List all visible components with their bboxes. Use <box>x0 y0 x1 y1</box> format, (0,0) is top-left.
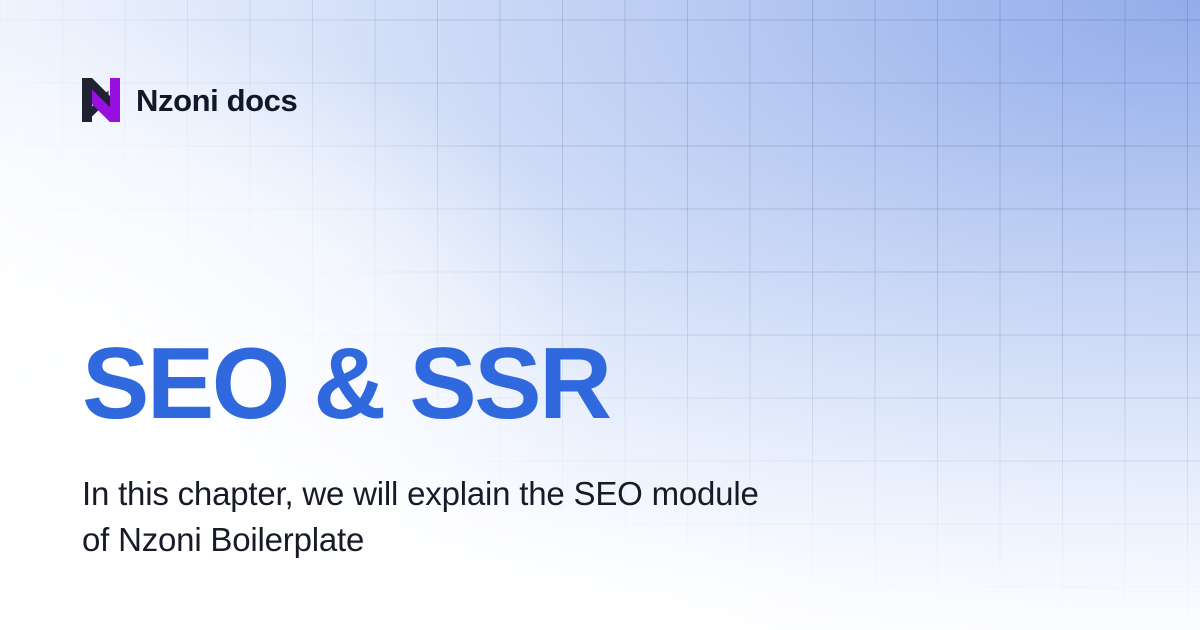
card-content: Nzoni docs SEO & SSR In this chapter, we… <box>0 0 1200 630</box>
headline-block: SEO & SSR In this chapter, we will expla… <box>82 334 942 562</box>
brand-name: Nzoni docs <box>136 85 297 116</box>
og-card: Nzoni docs SEO & SSR In this chapter, we… <box>0 0 1200 630</box>
brand-lockup: Nzoni docs <box>82 78 297 122</box>
page-title: SEO & SSR <box>82 334 942 435</box>
page-subtitle: In this chapter, we will explain the SEO… <box>82 471 762 562</box>
nzoni-n-logo-icon <box>82 78 120 122</box>
